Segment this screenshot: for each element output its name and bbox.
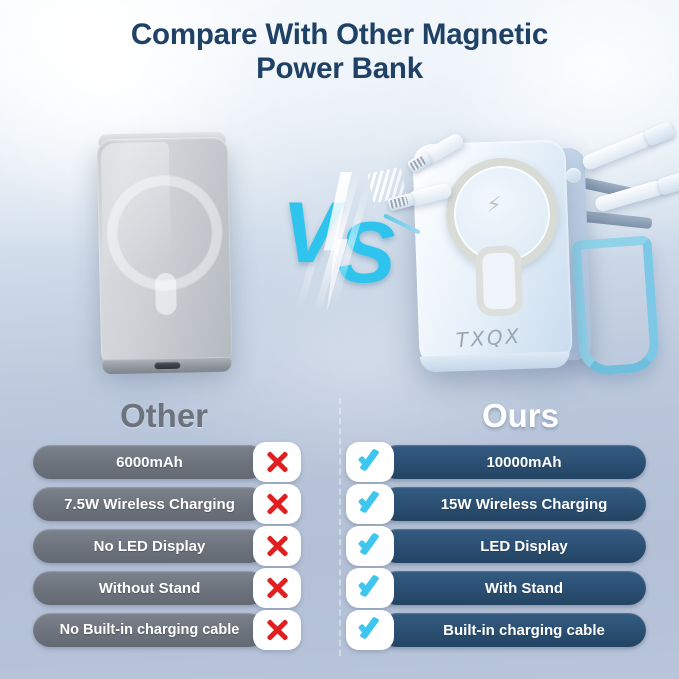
ours-feature-pill: 15W Wireless Charging [380, 487, 646, 521]
check-badge [346, 568, 394, 608]
other-feature-pill: Without Stand [33, 571, 266, 605]
table-row: 6000mAh 10000mAh [0, 445, 679, 487]
connector-head [643, 121, 675, 147]
cable-connector-right-1 [580, 121, 675, 173]
cross-badge [253, 442, 301, 482]
ours-feature-pill: With Stand [380, 571, 646, 605]
product-comparison-stage: V S TXQX ⚡ [0, 110, 679, 388]
other-feature-pill: 6000mAh [33, 445, 266, 479]
check-icon [357, 576, 384, 600]
check-icon [357, 492, 384, 516]
cross-badge [253, 526, 301, 566]
connector-head [657, 172, 679, 196]
ours-feature-label: 10000mAh [486, 454, 561, 471]
row-ours-side: LED Display [346, 529, 646, 563]
ours-feature-label: LED Display [480, 538, 568, 555]
check-badge [346, 484, 394, 524]
page-title: Compare With Other Magnetic Power Bank [0, 18, 679, 86]
check-icon [357, 450, 384, 474]
table-row: Without Stand With Stand [0, 571, 679, 613]
ours-feature-pill: LED Display [380, 529, 646, 563]
other-feature-pill: No Built-in charging cable [33, 613, 266, 647]
brand-label: TXQX [455, 321, 566, 353]
column-header-ours: Ours [482, 398, 559, 434]
table-row: No LED Display LED Display [0, 529, 679, 571]
ours-feature-pill: Built-in charging cable [380, 613, 646, 647]
check-icon [357, 618, 384, 642]
cable-body [581, 131, 653, 172]
usb-c-port-icon [154, 362, 180, 370]
other-power-bank-body [97, 137, 233, 368]
other-feature-label: No LED Display [94, 538, 206, 555]
column-header-other: Other [120, 398, 208, 434]
comparison-table: 6000mAh 10000mAh 7.5W Wireless Charging [0, 445, 679, 655]
kickstand-icon [571, 235, 660, 376]
row-ours-side: 10000mAh [346, 445, 646, 479]
ours-power-bank-image: TXQX ⚡ [398, 118, 666, 384]
versus-badge: V S [282, 182, 400, 300]
other-power-bank-image [97, 137, 233, 368]
ours-feature-label: Built-in charging cable [443, 622, 605, 639]
title-line-2: Power Bank [70, 52, 609, 86]
cross-icon [265, 450, 289, 474]
other-feature-pill: 7.5W Wireless Charging [33, 487, 266, 521]
cross-badge [253, 484, 301, 524]
check-badge [346, 610, 394, 650]
other-feature-label: No Built-in charging cable [60, 622, 240, 638]
check-badge [346, 526, 394, 566]
other-feature-label: Without Stand [99, 580, 201, 597]
other-feature-label: 6000mAh [116, 454, 183, 471]
table-row: No Built-in charging cable Built-in char… [0, 613, 679, 655]
comparison-infographic: Compare With Other Magnetic Power Bank V… [0, 0, 679, 679]
row-other-side: Without Stand [33, 571, 333, 605]
other-feature-pill: No LED Display [33, 529, 266, 563]
row-other-side: No LED Display [33, 529, 333, 563]
cross-icon [265, 492, 289, 516]
ours-feature-label: With Stand [485, 580, 563, 597]
row-ours-side: Built-in charging cable [346, 613, 646, 647]
check-icon [357, 534, 384, 558]
alignment-pill-icon [475, 245, 523, 317]
cross-icon [265, 534, 289, 558]
cross-badge [253, 568, 301, 608]
row-other-side: 7.5W Wireless Charging [33, 487, 333, 521]
cross-badge [253, 610, 301, 650]
cross-icon [265, 618, 289, 642]
ours-feature-label: 15W Wireless Charging [441, 496, 608, 513]
charging-bolt-icon: ⚡ [486, 192, 502, 218]
title-line-1: Compare With Other Magnetic [131, 18, 548, 51]
cross-icon [265, 576, 289, 600]
row-other-side: No Built-in charging cable [33, 613, 333, 647]
other-feature-label: 7.5W Wireless Charging [64, 496, 235, 513]
check-badge [346, 442, 394, 482]
row-ours-side: 15W Wireless Charging [346, 487, 646, 521]
alignment-pill-icon [154, 273, 176, 315]
table-row: 7.5W Wireless Charging 15W Wireless Char… [0, 487, 679, 529]
ours-feature-pill: 10000mAh [380, 445, 646, 479]
row-ours-side: With Stand [346, 571, 646, 605]
row-other-side: 6000mAh [33, 445, 333, 479]
